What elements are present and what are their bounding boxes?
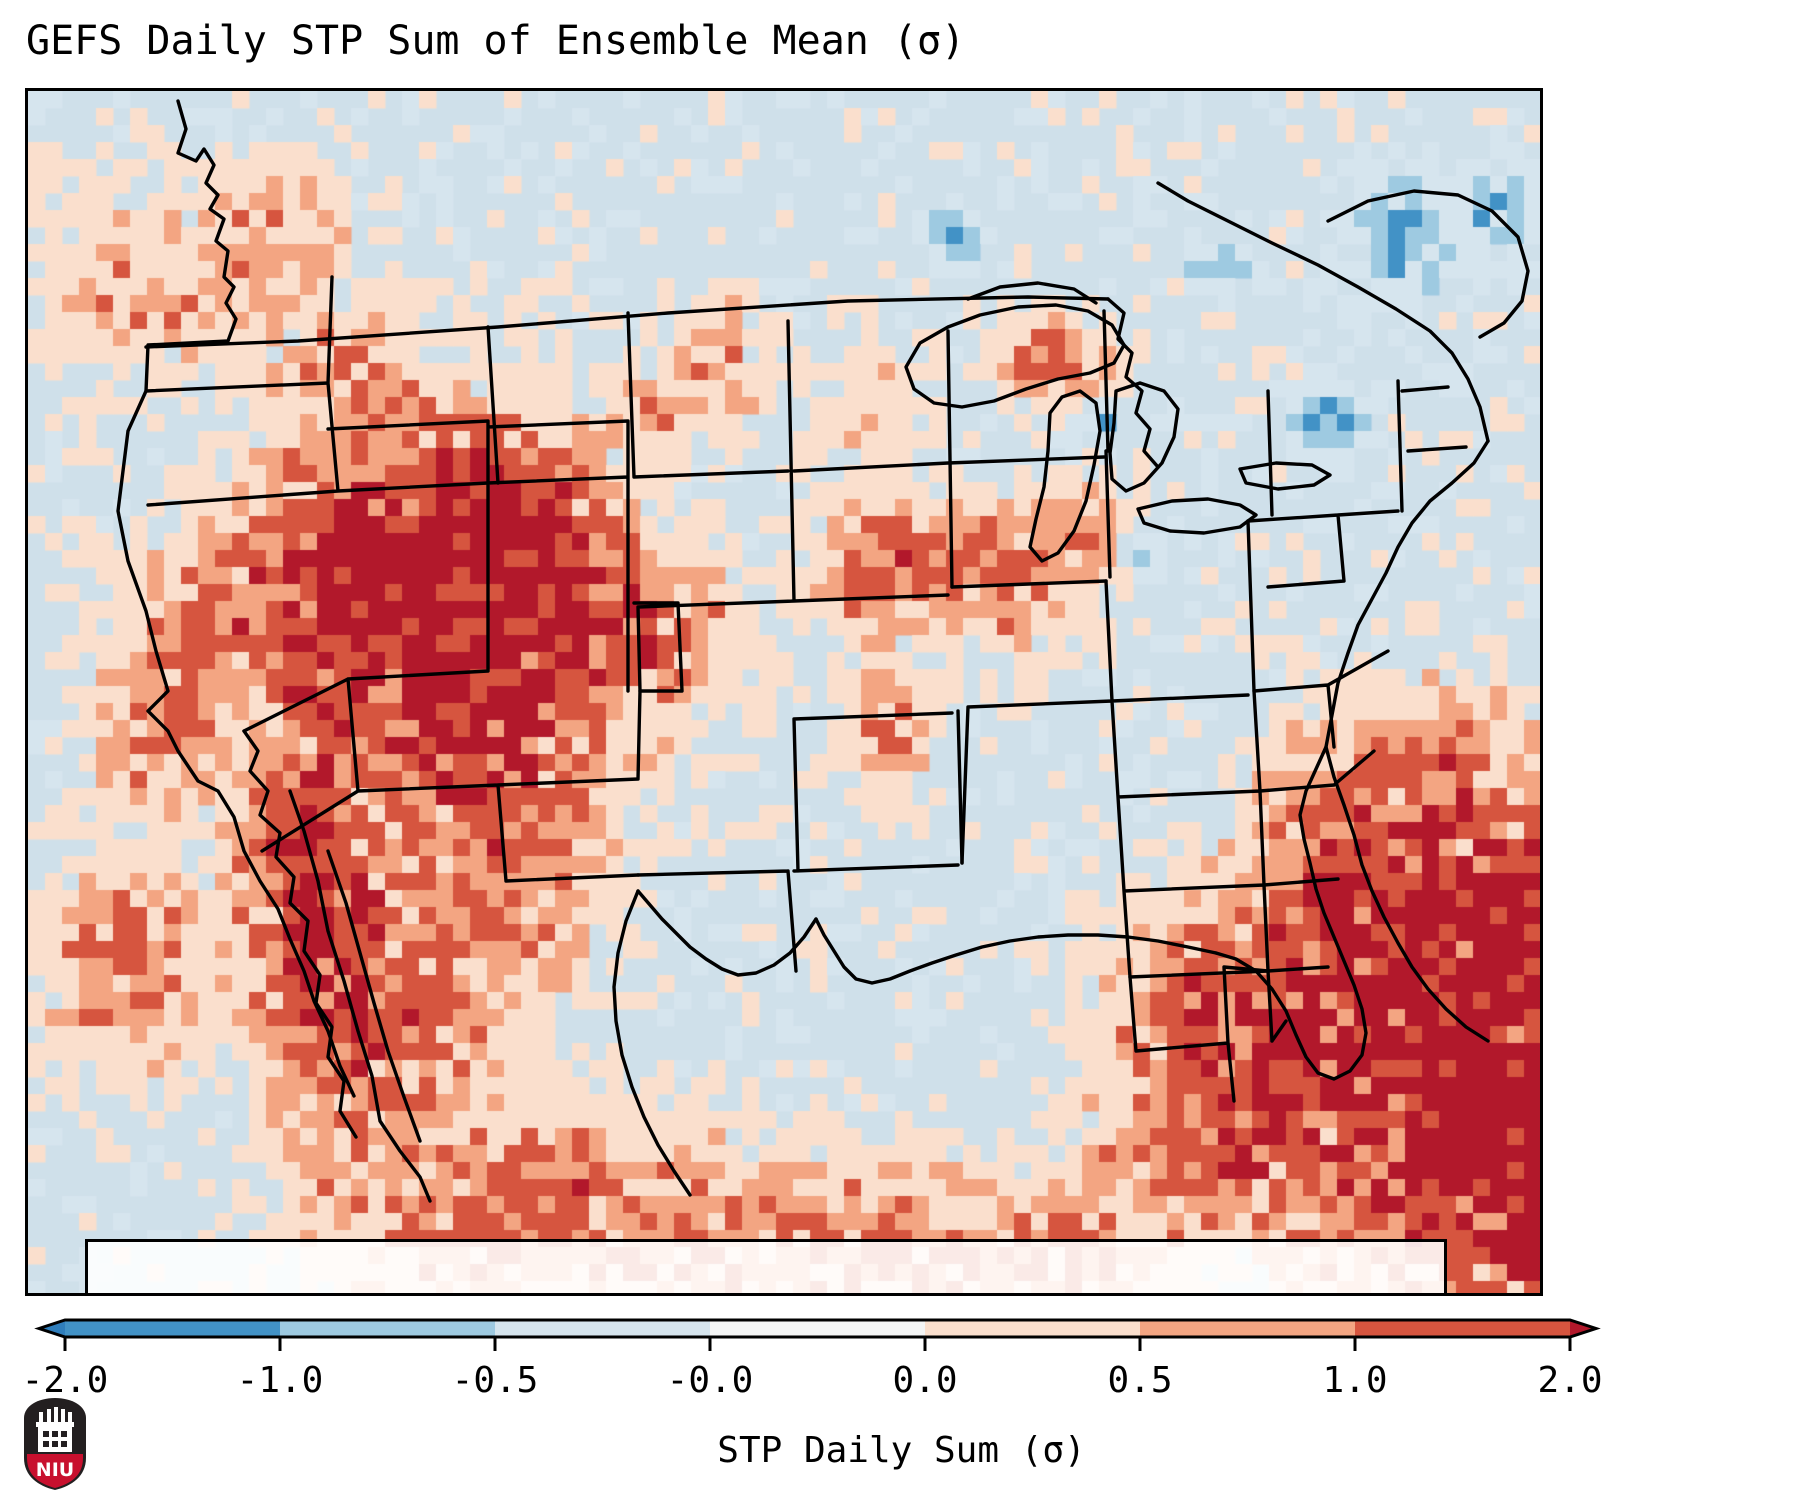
colorbar[interactable]	[25, 1306, 1785, 1366]
colorbar-band-5	[1140, 1320, 1356, 1337]
state-borders-west	[146, 277, 640, 881]
colorbar-band-4	[925, 1320, 1141, 1337]
state-borders-midwest	[962, 521, 1268, 977]
geography-overlay	[28, 91, 1540, 1293]
state-borders-plains	[638, 311, 1110, 971]
colorbar-tick-label-0: -2.0	[22, 1360, 109, 1401]
coastline-stlawrence	[1158, 183, 1488, 441]
colorbar-band-6	[1355, 1320, 1571, 1337]
colorbar-tick-label-2: -0.5	[452, 1360, 539, 1401]
page-title: GEFS Daily STP Sum of Ensemble Mean (σ)	[26, 18, 965, 64]
colorbar-tick-label-1: -1.0	[237, 1360, 324, 1401]
map-inner	[28, 91, 1540, 1293]
lake-superior	[906, 305, 1124, 407]
coastline-gulf	[816, 919, 1216, 983]
colorbar-tick-label-3: -0.0	[667, 1360, 754, 1401]
state-borders-appalachia	[1254, 651, 1388, 971]
colorbar-tick-label-5: 0.5	[1107, 1360, 1172, 1401]
coastline-maritimes	[1328, 191, 1528, 337]
coastline-newengland	[1326, 441, 1488, 1041]
colorbar-axis-label: STP Daily Sum (σ)	[0, 1430, 1803, 1471]
coastline-west	[118, 101, 354, 1096]
colorbar-tick-label-7: 2.0	[1537, 1360, 1602, 1401]
map-plot-area[interactable]: Valid: 2025-10-15 12:00 UTC to 2025-10-1…	[25, 88, 1543, 1296]
lake-ontario	[1240, 463, 1330, 489]
niu-logo: NIU	[20, 1396, 90, 1492]
lake-huron	[1110, 383, 1178, 491]
state-borders-mountain	[488, 313, 952, 691]
coastline-california	[244, 731, 356, 1137]
state-borders-northeast	[1248, 381, 1466, 587]
coastline-southeast	[1216, 747, 1366, 1079]
colorbar-band-0	[65, 1320, 281, 1337]
colorbar-band-3	[710, 1320, 926, 1337]
state-borders-southeast	[1130, 967, 1286, 1101]
colorbar-tick-label-6: 1.0	[1322, 1360, 1387, 1401]
lake-michigan	[1030, 391, 1100, 561]
colorbar-tick-label-4: 0.0	[892, 1360, 957, 1401]
logo-text: NIU	[36, 1459, 74, 1481]
lake-superior-north	[968, 283, 1096, 303]
lake-erie	[1138, 499, 1256, 533]
border-canada-lakes	[1108, 299, 1158, 467]
colorbar-band-1	[280, 1320, 496, 1337]
valid-run-infobox: Valid: 2025-10-15 12:00 UTC to 2025-10-1…	[85, 1239, 1447, 1296]
colorbar-band-2	[495, 1320, 711, 1337]
